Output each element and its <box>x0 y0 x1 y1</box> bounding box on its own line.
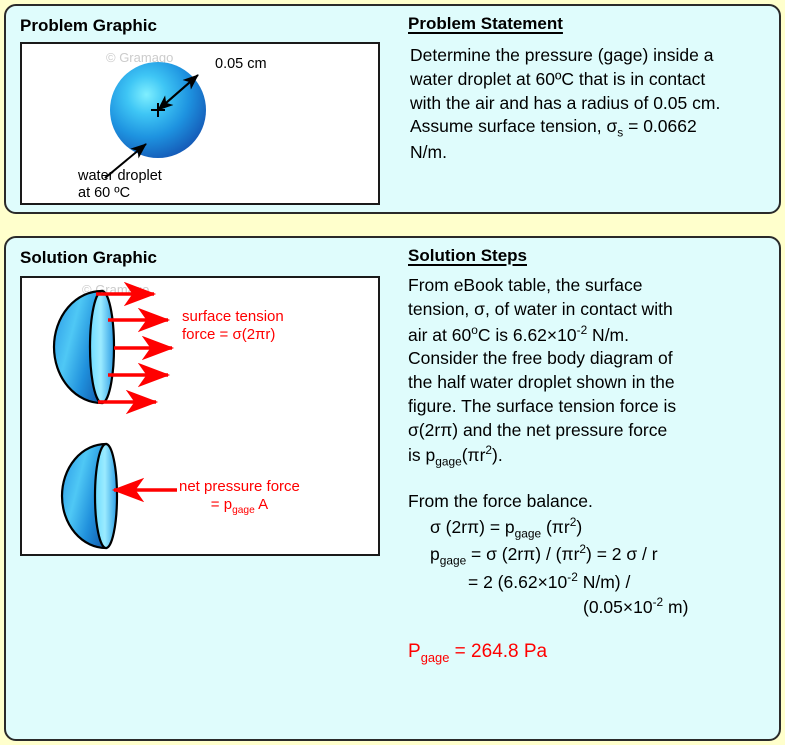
statement-line-5: N/m. <box>410 141 762 165</box>
final-answer: Pgage = 264.8 Pa <box>408 640 776 667</box>
droplet-label-line1: water droplet <box>78 168 162 184</box>
equation-line-3: = 2 (6.62×10-2 N/m) / <box>408 569 776 595</box>
solution-line-5: the half water droplet shown in the <box>408 371 776 395</box>
statement-line-2: water droplet at 60ºC that is in contact <box>410 68 762 92</box>
problem-statement-heading: Problem Statement <box>408 14 563 34</box>
solution-line-1: From eBook table, the surface <box>408 274 776 298</box>
equation-line-4: (0.05×10-2 m) <box>408 594 776 620</box>
net-pressure-label-line2: = pgage A <box>211 496 268 513</box>
solution-line-4: Consider the free body diagram of <box>408 347 776 371</box>
problem-statement-column: Problem Statement Determine the pressure… <box>396 6 781 212</box>
problem-statement-text: Determine the pressure (gage) inside a w… <box>410 44 762 165</box>
radius-label: 0.05 cm <box>215 56 267 73</box>
droplet-label: water droplet at 60 ºC <box>78 168 162 202</box>
force-balance-heading: From the force balance. <box>408 490 776 514</box>
solution-steps-text: From eBook table, the surface tension, σ… <box>408 274 776 667</box>
surface-tension-label: surface tension force = σ(2πr) <box>182 308 284 344</box>
problem-graphic-column: Problem Graphic © Gramago <box>6 6 396 212</box>
net-pressure-label: net pressure force = pgage A <box>179 478 300 517</box>
solution-line-3: air at 60oC is 6.62×10-2 N/m. <box>408 322 776 348</box>
worked-example-page: Problem Graphic © Gramago <box>0 0 785 745</box>
solution-line-6: figure. The surface tension force is <box>408 395 776 419</box>
solution-panel: Solution Graphic © Gramago <box>4 236 781 741</box>
surface-tension-label-line2: force = σ(2πr) <box>182 326 275 343</box>
net-pressure-label-line1: net pressure force <box>179 478 300 495</box>
surface-tension-label-line1: surface tension <box>182 308 284 325</box>
solution-line-7: σ(2rπ) and the net pressure force <box>408 419 776 443</box>
flat-face-ellipse-lower <box>95 444 117 548</box>
equation-line-2: pgage = σ (2rπ) / (πr2) = 2 σ / r <box>408 541 776 569</box>
statement-line-1: Determine the pressure (gage) inside a <box>410 44 762 68</box>
half-droplet-lower <box>62 444 117 548</box>
solution-graphic-heading: Solution Graphic <box>20 248 157 268</box>
solution-steps-column: Solution Steps From eBook table, the sur… <box>396 238 781 739</box>
solution-line-2: tension, σ, of water in contact with <box>408 298 776 322</box>
flat-face-ellipse-upper <box>90 291 114 403</box>
droplet-diagram <box>22 44 378 203</box>
solution-graphic-column: Solution Graphic © Gramago <box>6 238 396 739</box>
problem-panel: Problem Graphic © Gramago <box>4 4 781 214</box>
statement-line-3: with the air and has a radius of 0.05 cm… <box>410 92 762 116</box>
statement-line-4: Assume surface tension, σs = 0.0662 <box>410 115 762 141</box>
spacer <box>408 470 776 490</box>
solution-steps-heading: Solution Steps <box>408 246 527 266</box>
equation-line-1: σ (2rπ) = pgage (πr2) <box>408 514 776 542</box>
solution-line-8: is pgage(πr2). <box>408 442 776 470</box>
droplet-label-line2: at 60 ºC <box>78 185 130 201</box>
solution-graphic-frame: © Gramago <box>20 276 380 556</box>
half-droplet-upper <box>54 291 114 403</box>
problem-graphic-heading: Problem Graphic <box>20 16 157 36</box>
problem-graphic-frame: © Gramago <box>20 42 380 205</box>
equation-block: σ (2rπ) = pgage (πr2) pgage = σ (2rπ) / … <box>408 514 776 620</box>
